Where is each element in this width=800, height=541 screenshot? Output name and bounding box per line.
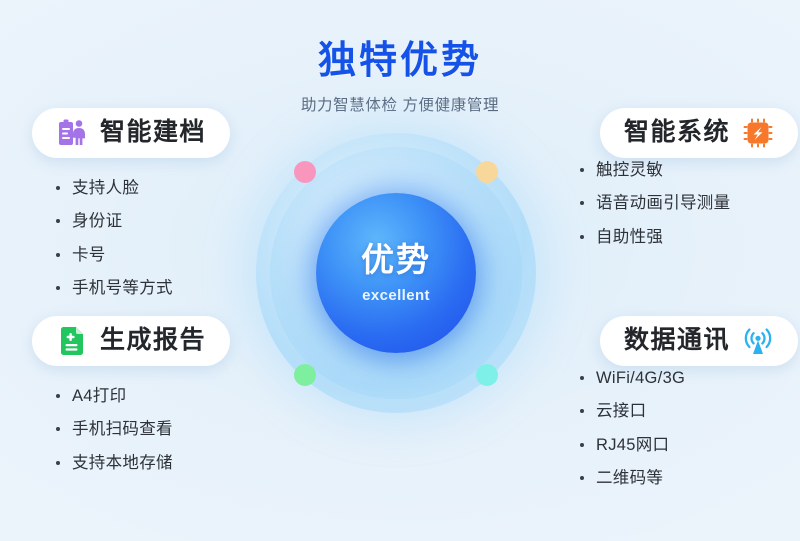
center-label-cn: 优势 (361, 243, 431, 276)
list-item: 语音动画引导测量 (580, 191, 798, 215)
list-item: 支持人脸 (56, 176, 282, 200)
feature-title-generate-report: 生成报告 (100, 327, 206, 355)
clipboard-person-icon (56, 117, 88, 149)
feature-block-generate-report: 生成报告 A4打印 手机扫码查看 支持本地存储 (32, 316, 282, 484)
feature-title-smart-system: 智能系统 (624, 119, 730, 147)
list-item: A4打印 (56, 384, 282, 408)
dot-amber (476, 161, 498, 183)
list-item: 触控灵敏 (580, 158, 798, 182)
feature-block-data-communication: 数据通讯 WiFi/4G/3G 云接口 RJ45网口 二维码等 (548, 316, 798, 500)
feature-list-data-communication: WiFi/4G/3G 云接口 RJ45网口 二维码等 (548, 366, 798, 491)
list-item: 云接口 (580, 399, 798, 423)
feature-block-smart-filing: 智能建档 支持人脸 身份证 卡号 手机号等方式 (32, 108, 282, 310)
list-item: WiFi/4G/3G (580, 366, 798, 390)
infographic-canvas: 独特优势 助力智慧体检 方便健康管理 优势 excellent (0, 0, 800, 541)
feature-title-data-communication: 数据通讯 (624, 327, 730, 355)
page-title: 独特优势 (0, 40, 800, 84)
list-item: RJ45网口 (580, 433, 798, 457)
list-item: 支持本地存储 (56, 451, 282, 475)
feature-list-generate-report: A4打印 手机扫码查看 支持本地存储 (32, 384, 282, 475)
dot-green (294, 364, 316, 386)
list-item: 卡号 (56, 243, 282, 267)
signal-tower-icon (742, 325, 774, 357)
feature-title-smart-filing: 智能建档 (100, 119, 206, 147)
feature-list-smart-system: 触控灵敏 语音动画引导测量 自助性强 (548, 158, 798, 249)
medical-report-icon (56, 325, 88, 357)
feature-title-pill-smart-filing[interactable]: 智能建档 (32, 108, 230, 158)
list-item: 手机号等方式 (56, 276, 282, 300)
feature-title-pill-generate-report[interactable]: 生成报告 (32, 316, 230, 366)
list-item: 手机扫码查看 (56, 417, 282, 441)
list-item: 二维码等 (580, 466, 798, 490)
header: 独特优势 助力智慧体检 方便健康管理 (0, 40, 800, 115)
dot-pink (294, 161, 316, 183)
center-core-circle: 优势 excellent (316, 193, 476, 353)
feature-title-pill-data-communication[interactable]: 数据通讯 (600, 316, 798, 366)
list-item: 自助性强 (580, 225, 798, 249)
center-label-en: excellent (362, 287, 430, 304)
dot-cyan (476, 364, 498, 386)
feature-block-smart-system: 智能系统 (548, 108, 798, 258)
feature-title-pill-smart-system[interactable]: 智能系统 (600, 108, 798, 158)
feature-list-smart-filing: 支持人脸 身份证 卡号 手机号等方式 (32, 176, 282, 301)
list-item: 身份证 (56, 209, 282, 233)
cpu-chip-icon (742, 117, 774, 149)
